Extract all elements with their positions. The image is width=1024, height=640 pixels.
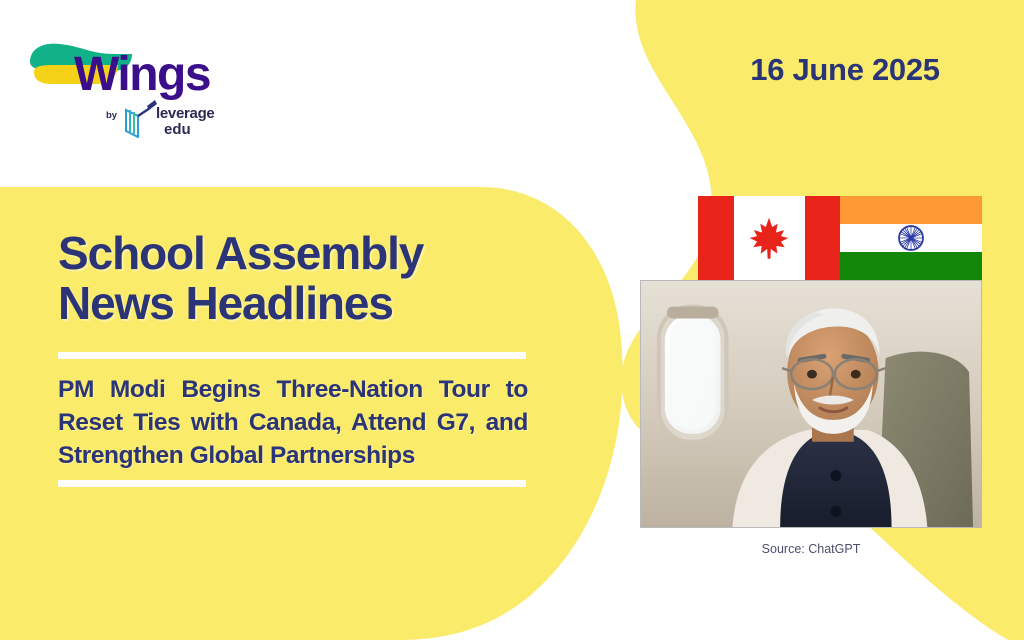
divider-bottom — [58, 480, 526, 487]
page-title-line2: News Headlines — [58, 278, 528, 328]
divider-top — [58, 352, 526, 359]
logo-by-label: by — [106, 110, 118, 121]
canada-flag-left-bar — [698, 196, 734, 280]
news-photo-illustration — [641, 281, 981, 527]
leverage-label: leverage — [156, 105, 214, 122]
poster-canvas: Wings by leverage edu 16 June 2025 Schoo… — [0, 0, 1024, 640]
edu-label: edu — [164, 121, 191, 138]
subheadline: PM Modi Begins Three-Nation Tour to Rese… — [58, 373, 528, 472]
maple-leaf-icon — [746, 215, 792, 261]
date-label: 16 June 2025 — [700, 52, 990, 88]
news-photo — [640, 280, 982, 528]
page-title: School Assembly News Headlines — [58, 228, 528, 328]
wings-logo-svg: Wings by leverage edu — [14, 18, 234, 138]
india-flag-white-stripe — [840, 224, 982, 252]
media-column: Source: ChatGPT — [640, 196, 982, 556]
india-flag-green-stripe — [840, 252, 982, 280]
flags-row — [698, 196, 982, 280]
wings-logo[interactable]: Wings by leverage edu — [14, 18, 234, 138]
headline-block: School Assembly News Headlines PM Modi B… — [58, 228, 528, 487]
photo-source-caption: Source: ChatGPT — [640, 542, 982, 556]
india-flag-saffron-stripe — [840, 196, 982, 224]
leverage-edu-book-pen-icon — [126, 100, 157, 137]
page-title-line1: School Assembly — [58, 228, 528, 278]
ashoka-chakra-icon — [898, 225, 924, 251]
airplane-window — [657, 305, 729, 444]
india-flag — [840, 196, 982, 280]
canada-flag-right-bar — [805, 196, 841, 280]
wings-wordmark: Wings — [74, 48, 210, 101]
canada-flag — [698, 196, 840, 280]
